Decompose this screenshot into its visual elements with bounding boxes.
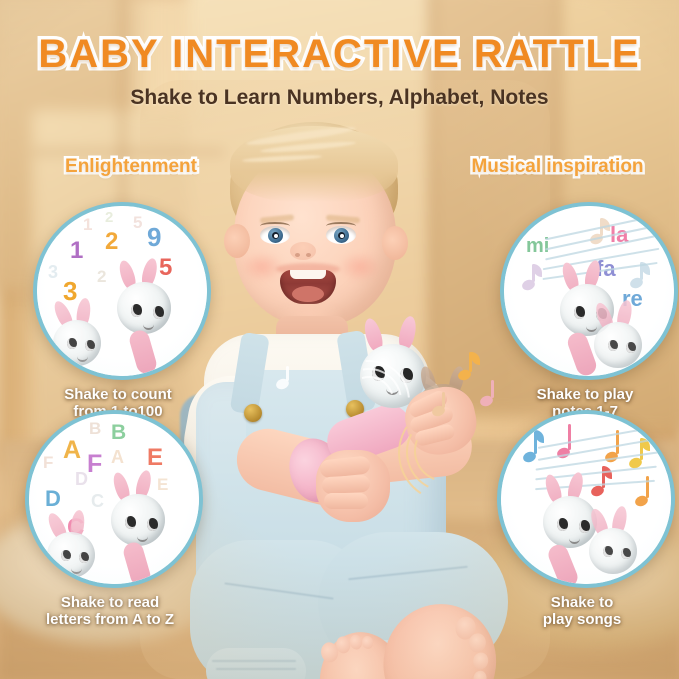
caption-line: Shake to play [500, 387, 670, 404]
overall-button [244, 404, 262, 422]
feature-glyph: D [45, 488, 61, 510]
caption-line: Shake to read [25, 595, 195, 612]
baby-nose [290, 242, 316, 260]
feature-glyph: F [43, 454, 53, 471]
feature-glyph: C [91, 492, 104, 510]
page-subtitle: Shake to Learn Numbers, Alphabet, Notes [0, 86, 679, 110]
pant-cuff [206, 648, 306, 679]
feature-caption: Shake to read letters from A to Z [25, 595, 195, 629]
feature-circle: sodorefalami [500, 202, 678, 380]
feature-caption: Shake to play songs [497, 595, 667, 629]
caption-line: letters from A to Z [25, 612, 195, 629]
feature-glyph: 2 [97, 268, 106, 285]
feature-glyph: 5 [133, 214, 142, 231]
feature-songs[interactable]: Shake to play songs [497, 410, 667, 629]
feature-glyph: 1 [70, 239, 83, 263]
feature-glyph: F [87, 452, 102, 477]
product-infographic: BABY INTERACTIVE RATTLE Shake to Learn N… [0, 0, 679, 679]
section-label-enlightenment: Enlightenment [26, 156, 236, 178]
feature-glyph: 3 [48, 263, 58, 281]
feature-circle: 3523192521 [33, 202, 211, 380]
feature-count[interactable]: 3523192521 [33, 202, 203, 421]
feature-glyph: B [89, 420, 101, 437]
feature-glyph: E [147, 446, 163, 470]
baby-hand [316, 450, 390, 522]
caption-line: play songs [497, 612, 667, 629]
feature-glyph: B [111, 422, 126, 443]
baby-ear [382, 226, 408, 260]
feature-glyph: 2 [105, 230, 118, 254]
feature-circle: CECDDEAFFABB [25, 410, 203, 588]
baby-cheek [338, 252, 382, 282]
baby-photo [168, 120, 518, 679]
feature-glyph: 5 [159, 256, 172, 280]
section-label-musical: Musical inspiration [450, 156, 665, 178]
feature-glyph-layer [501, 414, 671, 584]
feature-notes[interactable]: sodorefalami [500, 202, 670, 421]
feature-glyph: E [157, 476, 168, 493]
feature-glyph: A [111, 448, 124, 466]
caption-line: Shake to count [33, 387, 203, 404]
caption-line: Shake to [497, 595, 667, 612]
feature-glyph-layer: CECDDEAFFABB [29, 414, 199, 584]
feature-glyph: 3 [63, 278, 77, 304]
feature-glyph-layer: 3523192521 [37, 206, 207, 376]
baby-ear [224, 224, 250, 258]
page-title: BABY INTERACTIVE RATTLE [0, 32, 679, 77]
feature-letters[interactable]: CECDDEAFFABB [25, 410, 195, 629]
feature-glyph: 2 [105, 210, 113, 225]
feature-glyph: A [63, 438, 81, 463]
feature-glyph-layer: sodorefalami [504, 206, 674, 376]
feature-glyph: 1 [83, 216, 92, 233]
feature-circle [497, 410, 675, 588]
feature-glyph: 9 [147, 224, 161, 250]
